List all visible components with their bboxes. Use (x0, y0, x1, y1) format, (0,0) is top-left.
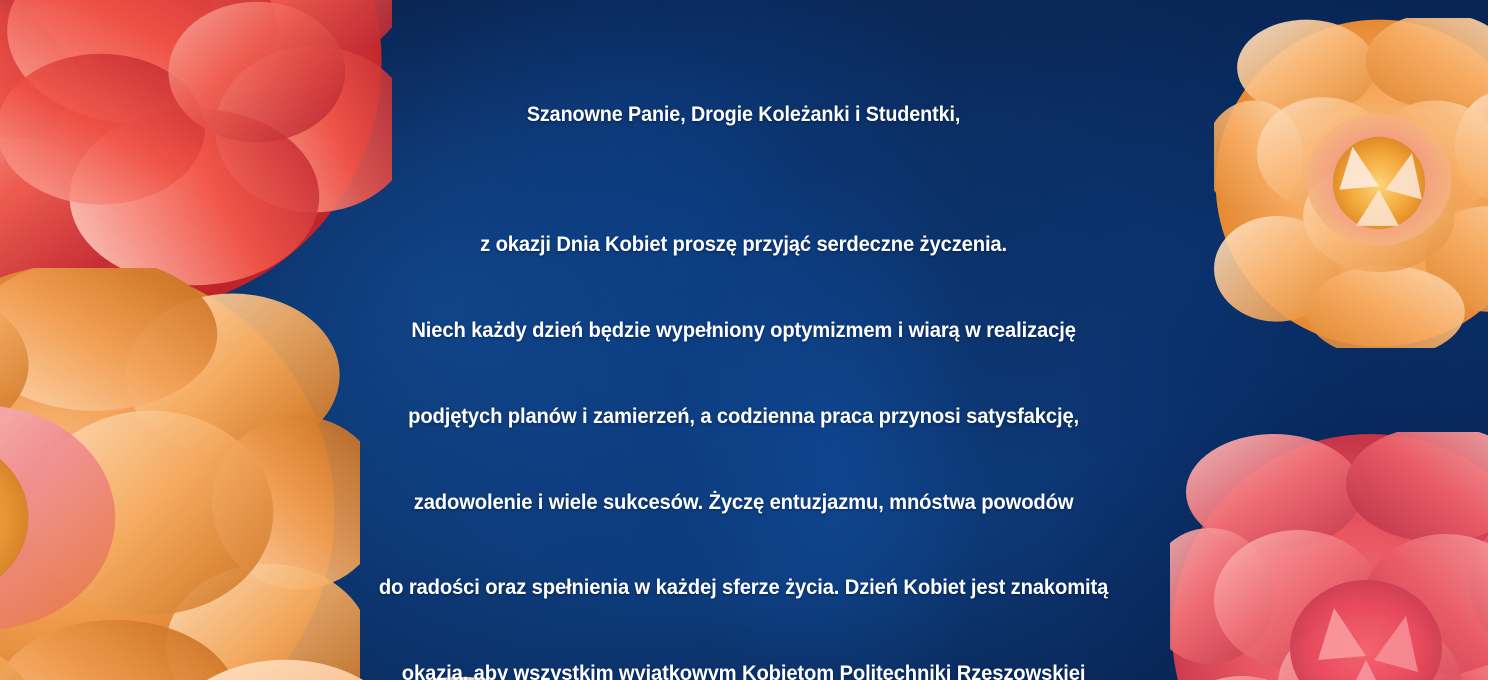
wishes-line: z okazji Dnia Kobiet proszę przyjąć serd… (369, 230, 1118, 259)
wishes-line: zadowolenie i wiele sukcesów. Życzę entu… (369, 488, 1118, 517)
wishes-line: okazją, aby wszystkim wyjątkowym Kobieto… (369, 659, 1118, 680)
wishes-line: podjętych planów i zamierzeń, a codzienn… (369, 402, 1118, 431)
greeting-line: Szanowne Panie, Drogie Koleżanki i Stude… (527, 103, 960, 127)
greeting-card: Szanowne Panie, Drogie Koleżanki i Stude… (0, 0, 1488, 680)
wishes-line: Niech każdy dzień będzie wypełniony opty… (369, 316, 1118, 345)
wishes-paragraph: z okazji Dnia Kobiet proszę przyjąć serd… (369, 173, 1118, 680)
card-content: Szanowne Panie, Drogie Koleżanki i Stude… (0, 0, 1488, 680)
wishes-line: do radości oraz spełnienia w każdej sfer… (369, 573, 1118, 602)
